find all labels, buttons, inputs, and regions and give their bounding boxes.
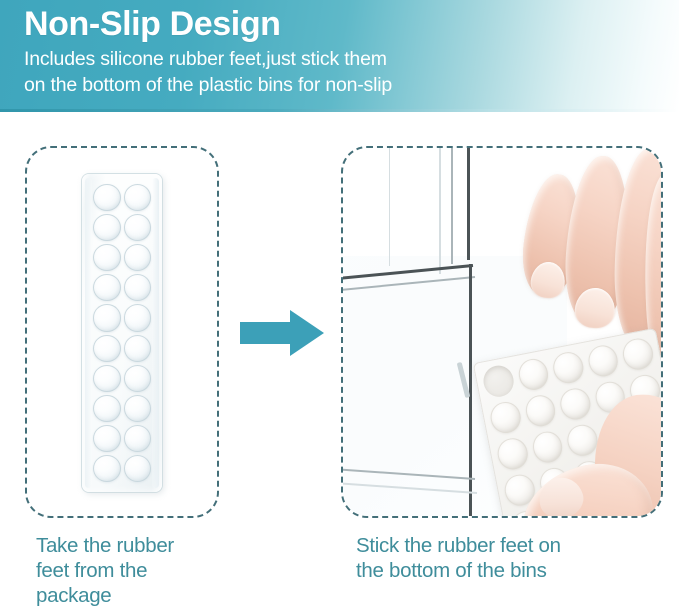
step-2-caption-line-2: the bottom of the bins: [356, 558, 656, 583]
arrow-right-icon: [240, 310, 324, 356]
header-subtitle-line-1: Includes silicone rubber feet,just stick…: [24, 46, 584, 72]
step-arrow-container: [240, 310, 324, 356]
step-2-image-panel: [341, 146, 663, 518]
rubber-foot: [530, 429, 565, 465]
rubber-foot: [124, 274, 152, 301]
step-1-caption-line-2: feet from the: [36, 558, 246, 583]
rubber-foot: [558, 386, 593, 422]
blister-pack: [82, 174, 162, 492]
rubber-foot: [124, 335, 152, 362]
header-subtitle: Includes silicone rubber feet,just stick…: [24, 46, 584, 98]
rubber-foot: [93, 244, 121, 271]
rubber-foot: [620, 336, 655, 372]
rubber-foot: [93, 365, 121, 392]
rubber-foot: [585, 343, 620, 379]
rubber-foot: [124, 425, 152, 452]
rubber-foot: [93, 304, 121, 331]
rubber-foot: [124, 304, 152, 331]
header-banner: Non-Slip Design Includes silicone rubber…: [0, 0, 679, 112]
bin-edge-corner-vertical: [467, 146, 470, 260]
bin-scene: [343, 148, 661, 516]
rubber-foot: [93, 335, 121, 362]
blister-feet-grid: [92, 183, 152, 483]
rubber-foot: [488, 400, 523, 436]
step-2-caption-line-1: Stick the rubber feet on: [356, 533, 656, 558]
bin-edge-front-vertical: [469, 264, 472, 518]
rubber-foot: [93, 395, 121, 422]
step-1-caption-line-1: Take the rubber: [36, 533, 246, 558]
header-subtitle-line-2: on the bottom of the plastic bins for no…: [24, 72, 584, 98]
rubber-foot: [124, 455, 152, 482]
rubber-foot: [124, 395, 152, 422]
rubber-foot: [93, 184, 121, 211]
step-1-image-panel: [25, 146, 219, 518]
rubber-foot: [516, 356, 551, 392]
rubber-foot: [551, 350, 586, 386]
step-2-caption: Stick the rubber feet on the bottom of t…: [356, 533, 656, 583]
rubber-foot: [93, 455, 121, 482]
rubber-foot: [124, 214, 152, 241]
rubber-foot: [662, 366, 663, 402]
rubber-foot: [523, 393, 558, 429]
page-title: Non-Slip Design: [24, 2, 281, 46]
rubber-foot: [93, 425, 121, 452]
rubber-foot-empty-slot: [481, 363, 516, 399]
rubber-foot: [93, 274, 121, 301]
bin-edge-back-vertical-2: [451, 146, 453, 264]
bin-edge-back-vertical: [439, 146, 441, 274]
infographic-page: Non-Slip Design Includes silicone rubber…: [0, 0, 679, 614]
rubber-foot: [495, 436, 530, 472]
rubber-foot: [124, 184, 152, 211]
rubber-foot: [565, 422, 600, 458]
rubber-foot: [124, 244, 152, 271]
rubber-foot: [124, 365, 152, 392]
bin-edge-inner-faint: [389, 146, 390, 266]
step-1-caption-line-3: package: [36, 583, 246, 608]
step-1-caption: Take the rubber feet from the package: [36, 533, 246, 608]
rubber-foot: [93, 214, 121, 241]
